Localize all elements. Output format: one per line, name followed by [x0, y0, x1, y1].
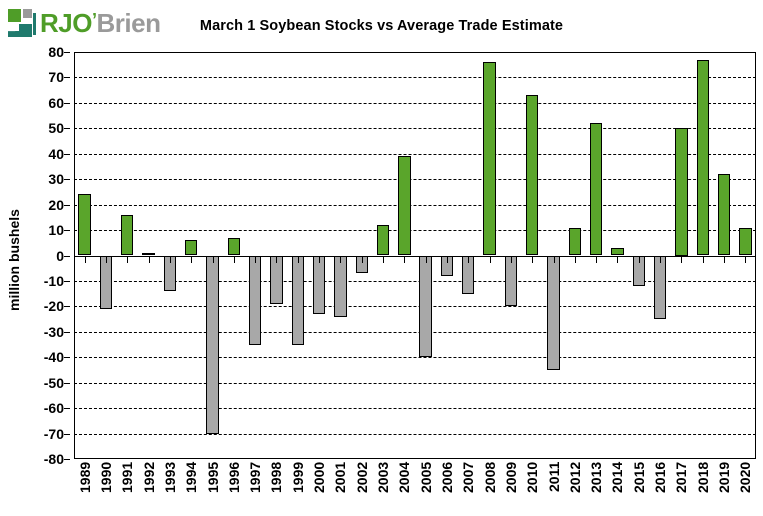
x-tick-mark [639, 256, 640, 263]
x-tick-mark [170, 256, 171, 263]
y-tick-mark [64, 154, 70, 155]
gridline [74, 77, 756, 78]
x-tick-label-2008: 2008 [482, 462, 498, 514]
y-tick-label: -20 [2, 299, 64, 313]
bar-2003 [377, 225, 389, 256]
gridline [74, 434, 756, 435]
x-tick-label-1997: 1997 [247, 462, 263, 514]
y-tick-mark [64, 77, 70, 78]
x-tick-label-2001: 2001 [332, 462, 348, 514]
x-tick-mark [213, 256, 214, 263]
x-tick-mark [85, 256, 86, 263]
bar-2018 [697, 60, 709, 256]
bar-1990 [100, 256, 112, 309]
x-tick-mark [319, 256, 320, 263]
x-tick-mark [149, 256, 150, 263]
gridline [74, 103, 756, 104]
y-tick-label: -40 [2, 350, 64, 364]
y-tick-label: -70 [2, 427, 64, 441]
y-tick-mark [64, 383, 70, 384]
bar-2009 [505, 256, 517, 307]
y-axis-ticks: 80706050403020100-10-20-30-40-50-60-70-8… [0, 52, 70, 459]
bar-1998 [270, 256, 282, 304]
bar-2010 [526, 95, 538, 255]
gridline [74, 408, 756, 409]
bar-1997 [249, 256, 261, 345]
bar-2004 [398, 156, 410, 255]
y-tick-label: 60 [2, 96, 64, 110]
x-tick-mark [468, 256, 469, 263]
x-tick-label-2007: 2007 [460, 462, 476, 514]
gridline [74, 357, 756, 358]
bar-2013 [590, 123, 602, 255]
x-tick-label-1996: 1996 [226, 462, 242, 514]
x-tick-mark [511, 256, 512, 263]
bar-2011 [547, 256, 559, 370]
x-tick-label-2019: 2019 [716, 462, 732, 514]
bar-2012 [569, 228, 581, 256]
y-tick-label: 30 [2, 172, 64, 186]
x-tick-label-2002: 2002 [354, 462, 370, 514]
x-tick-label-2010: 2010 [524, 462, 540, 514]
x-tick-mark [106, 256, 107, 263]
x-tick-mark [447, 256, 448, 263]
y-tick-mark [64, 357, 70, 358]
y-tick-mark [64, 332, 70, 333]
y-tick-mark [64, 179, 70, 180]
x-tick-mark [383, 256, 384, 263]
x-tick-label-2004: 2004 [396, 462, 412, 514]
y-tick-label: -50 [2, 376, 64, 390]
bar-1991 [121, 215, 133, 256]
chart-header: RJO’Brien March 1 Soybean Stocks vs Aver… [0, 0, 763, 46]
bar-2001 [334, 256, 346, 317]
x-tick-label-1998: 1998 [268, 462, 284, 514]
y-tick-label: 80 [2, 45, 64, 59]
y-tick-mark [64, 230, 70, 231]
x-tick-mark [255, 256, 256, 263]
y-tick-mark [64, 52, 70, 53]
x-axis-labels: 1989199019911992199319941995199619971998… [74, 462, 756, 516]
x-tick-mark [490, 256, 491, 263]
gridline [74, 383, 756, 384]
x-tick-label-2015: 2015 [631, 462, 647, 514]
y-tick-mark [64, 256, 70, 257]
x-tick-mark [532, 256, 533, 263]
x-tick-label-2003: 2003 [375, 462, 391, 514]
gridline [74, 128, 756, 129]
x-tick-label-2011: 2011 [546, 462, 562, 514]
x-tick-label-1991: 1991 [119, 462, 135, 514]
x-tick-label-1990: 1990 [98, 462, 114, 514]
x-tick-label-1994: 1994 [183, 462, 199, 514]
bar-1996 [228, 238, 240, 256]
bar-2020 [739, 228, 751, 256]
x-tick-label-2020: 2020 [737, 462, 753, 514]
bar-1999 [292, 256, 304, 345]
y-tick-label: 20 [2, 198, 64, 212]
x-tick-mark [362, 256, 363, 263]
y-tick-mark [64, 103, 70, 104]
x-tick-mark [127, 256, 128, 263]
x-tick-label-1989: 1989 [77, 462, 93, 514]
x-tick-mark [234, 256, 235, 263]
x-tick-label-2009: 2009 [503, 462, 519, 514]
y-tick-mark [64, 459, 70, 460]
y-tick-mark [64, 281, 70, 282]
bar-2019 [718, 174, 730, 255]
x-tick-mark [298, 256, 299, 263]
x-tick-mark [724, 256, 725, 263]
y-tick-label: 0 [2, 249, 64, 263]
y-tick-label: -10 [2, 274, 64, 288]
bar-2017 [675, 128, 687, 255]
bar-1989 [78, 194, 90, 255]
x-tick-mark [340, 256, 341, 263]
gridline [74, 179, 756, 180]
y-tick-label: 50 [2, 121, 64, 135]
page-title: March 1 Soybean Stocks vs Average Trade … [0, 18, 763, 34]
x-tick-label-2000: 2000 [311, 462, 327, 514]
gridline [74, 205, 756, 206]
y-tick-label: -30 [2, 325, 64, 339]
x-tick-label-2012: 2012 [567, 462, 583, 514]
bar-2008 [483, 62, 495, 255]
x-tick-mark [191, 256, 192, 263]
bar-2014 [611, 248, 623, 256]
y-tick-label: 40 [2, 147, 64, 161]
y-tick-label: 70 [2, 70, 64, 84]
x-tick-mark [703, 256, 704, 263]
x-tick-mark [745, 256, 746, 263]
y-tick-mark [64, 306, 70, 307]
bar-2005 [419, 256, 431, 358]
x-tick-mark [554, 256, 555, 263]
x-tick-label-2013: 2013 [588, 462, 604, 514]
x-tick-mark [617, 256, 618, 263]
x-tick-label-1995: 1995 [205, 462, 221, 514]
x-tick-mark [660, 256, 661, 263]
gridline [74, 332, 756, 333]
bar-2000 [313, 256, 325, 315]
x-tick-label-2017: 2017 [673, 462, 689, 514]
y-tick-mark [64, 128, 70, 129]
chart-plot-area [74, 52, 756, 459]
y-tick-mark [64, 408, 70, 409]
gridline [74, 230, 756, 231]
x-tick-label-2005: 2005 [418, 462, 434, 514]
x-tick-mark [404, 256, 405, 263]
y-tick-mark [64, 205, 70, 206]
y-tick-label: 10 [2, 223, 64, 237]
x-tick-mark [426, 256, 427, 263]
bar-1995 [206, 256, 218, 434]
x-tick-mark [575, 256, 576, 263]
y-tick-label: -60 [2, 401, 64, 415]
bar-2016 [654, 256, 666, 320]
x-tick-label-2014: 2014 [609, 462, 625, 514]
x-tick-mark [596, 256, 597, 263]
x-tick-label-1999: 1999 [290, 462, 306, 514]
x-tick-mark [276, 256, 277, 263]
gridline [74, 154, 756, 155]
y-tick-mark [64, 434, 70, 435]
x-tick-mark [681, 256, 682, 263]
x-tick-label-1993: 1993 [162, 462, 178, 514]
bar-1994 [185, 240, 197, 255]
x-tick-label-1992: 1992 [141, 462, 157, 514]
y-tick-label: -80 [2, 452, 64, 466]
x-tick-label-2016: 2016 [652, 462, 668, 514]
x-tick-label-2018: 2018 [695, 462, 711, 514]
x-tick-label-2006: 2006 [439, 462, 455, 514]
